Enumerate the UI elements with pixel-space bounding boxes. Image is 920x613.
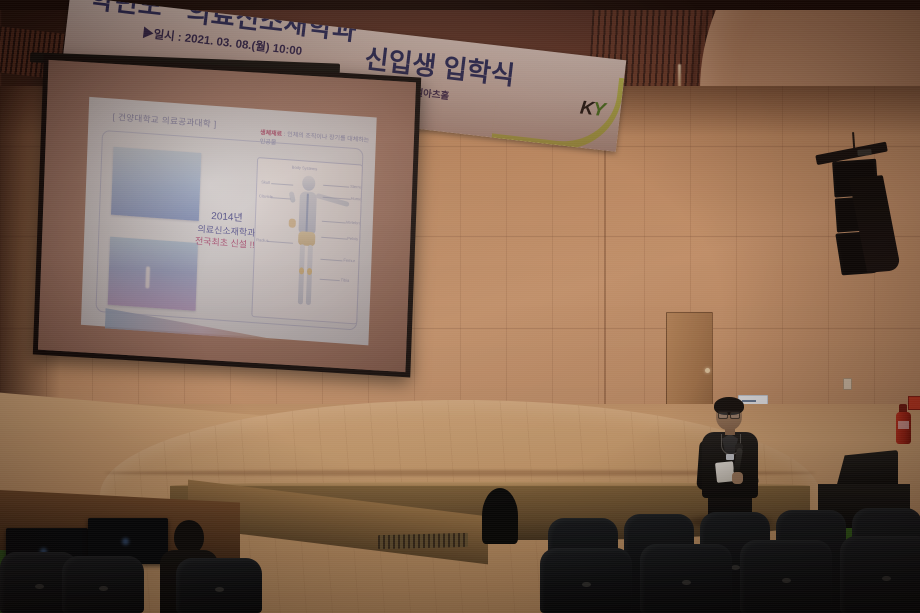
anatomy-leader-line bbox=[323, 185, 349, 188]
fire-equipment-sign bbox=[908, 396, 920, 410]
anatomy-label: Pelvis bbox=[347, 236, 358, 242]
anatomy-leader-line bbox=[320, 259, 342, 262]
projection-screen: [ 건양대학교 의료공과대학 ] 2014년 의료신소재학과 전국최초 신설 !… bbox=[33, 55, 421, 378]
auditorium-seat[interactable] bbox=[740, 540, 832, 613]
anatomy-leader-line bbox=[321, 237, 347, 240]
wall-light-switch[interactable] bbox=[843, 378, 852, 390]
presenter-name-badge bbox=[726, 454, 734, 460]
monitor-screen-glow bbox=[122, 538, 129, 545]
ky-logo: KY bbox=[579, 97, 606, 122]
slide-biomaterial-term: 생체재료 bbox=[260, 130, 282, 138]
anatomy-left-arm bbox=[289, 191, 296, 203]
anatomy-label: Clavicle bbox=[259, 193, 273, 199]
anatomy-skull-icon bbox=[302, 175, 316, 191]
auditorium-photo-scene: 학년도 의료신소재학과 신입생 입학식 ▶일시 : 2021. 03. 08.(… bbox=[0, 0, 920, 613]
anatomy-label: Vertebrae bbox=[346, 219, 363, 225]
fire-extinguisher bbox=[896, 404, 912, 444]
anatomy-label: Skull bbox=[261, 179, 270, 185]
speaker-badge bbox=[857, 149, 871, 156]
anatomy-label: Femur bbox=[343, 257, 355, 263]
presenter-hand bbox=[732, 472, 743, 484]
slide-photo-bottom bbox=[108, 237, 198, 311]
anatomy-leader-line bbox=[322, 221, 346, 224]
technician-head bbox=[174, 520, 204, 554]
presenter bbox=[694, 400, 768, 523]
auditorium-seat[interactable] bbox=[62, 556, 144, 613]
anatomy-leader-line bbox=[271, 183, 293, 186]
ky-logo-y: Y bbox=[592, 99, 606, 121]
anatomy-label: Radius bbox=[256, 237, 269, 243]
auditorium-seat[interactable] bbox=[640, 544, 732, 613]
stage-floor-monitor bbox=[836, 450, 898, 488]
glasses-icon bbox=[718, 411, 740, 417]
anatomy-label: Tibia bbox=[341, 277, 350, 283]
anatomy-leader-line bbox=[267, 241, 293, 244]
anatomy-label: Sternum bbox=[350, 184, 363, 190]
audience-silhouette bbox=[482, 488, 518, 544]
stage-vent-grille bbox=[378, 533, 468, 549]
slide-anatomy-diagram: Body Systems bbox=[251, 157, 363, 324]
anatomy-figure bbox=[289, 175, 324, 309]
anatomy-left-hand bbox=[289, 218, 296, 227]
anatomy-label: Humerus bbox=[351, 196, 363, 202]
door-knob[interactable] bbox=[705, 368, 710, 373]
anatomy-leader-line bbox=[271, 197, 291, 199]
anatomy-leader-line bbox=[320, 279, 340, 281]
slide-header: [ 건양대학교 의료공과대학 ] bbox=[112, 111, 216, 130]
projection-screen-surface: [ 건양대학교 의료공과대학 ] 2014년 의료신소재학과 전국최초 신설 !… bbox=[38, 60, 416, 372]
presentation-slide: [ 건양대학교 의료공과대학 ] 2014년 의료신소재학과 전국최초 신설 !… bbox=[81, 97, 377, 345]
auditorium-seat[interactable] bbox=[840, 536, 920, 613]
auditorium-seat[interactable] bbox=[540, 548, 632, 613]
anatomy-caption: Body Systems bbox=[292, 165, 318, 172]
extinguisher-label bbox=[898, 421, 909, 429]
anatomy-right-arm bbox=[316, 193, 350, 207]
auditorium-seat[interactable] bbox=[176, 558, 262, 613]
